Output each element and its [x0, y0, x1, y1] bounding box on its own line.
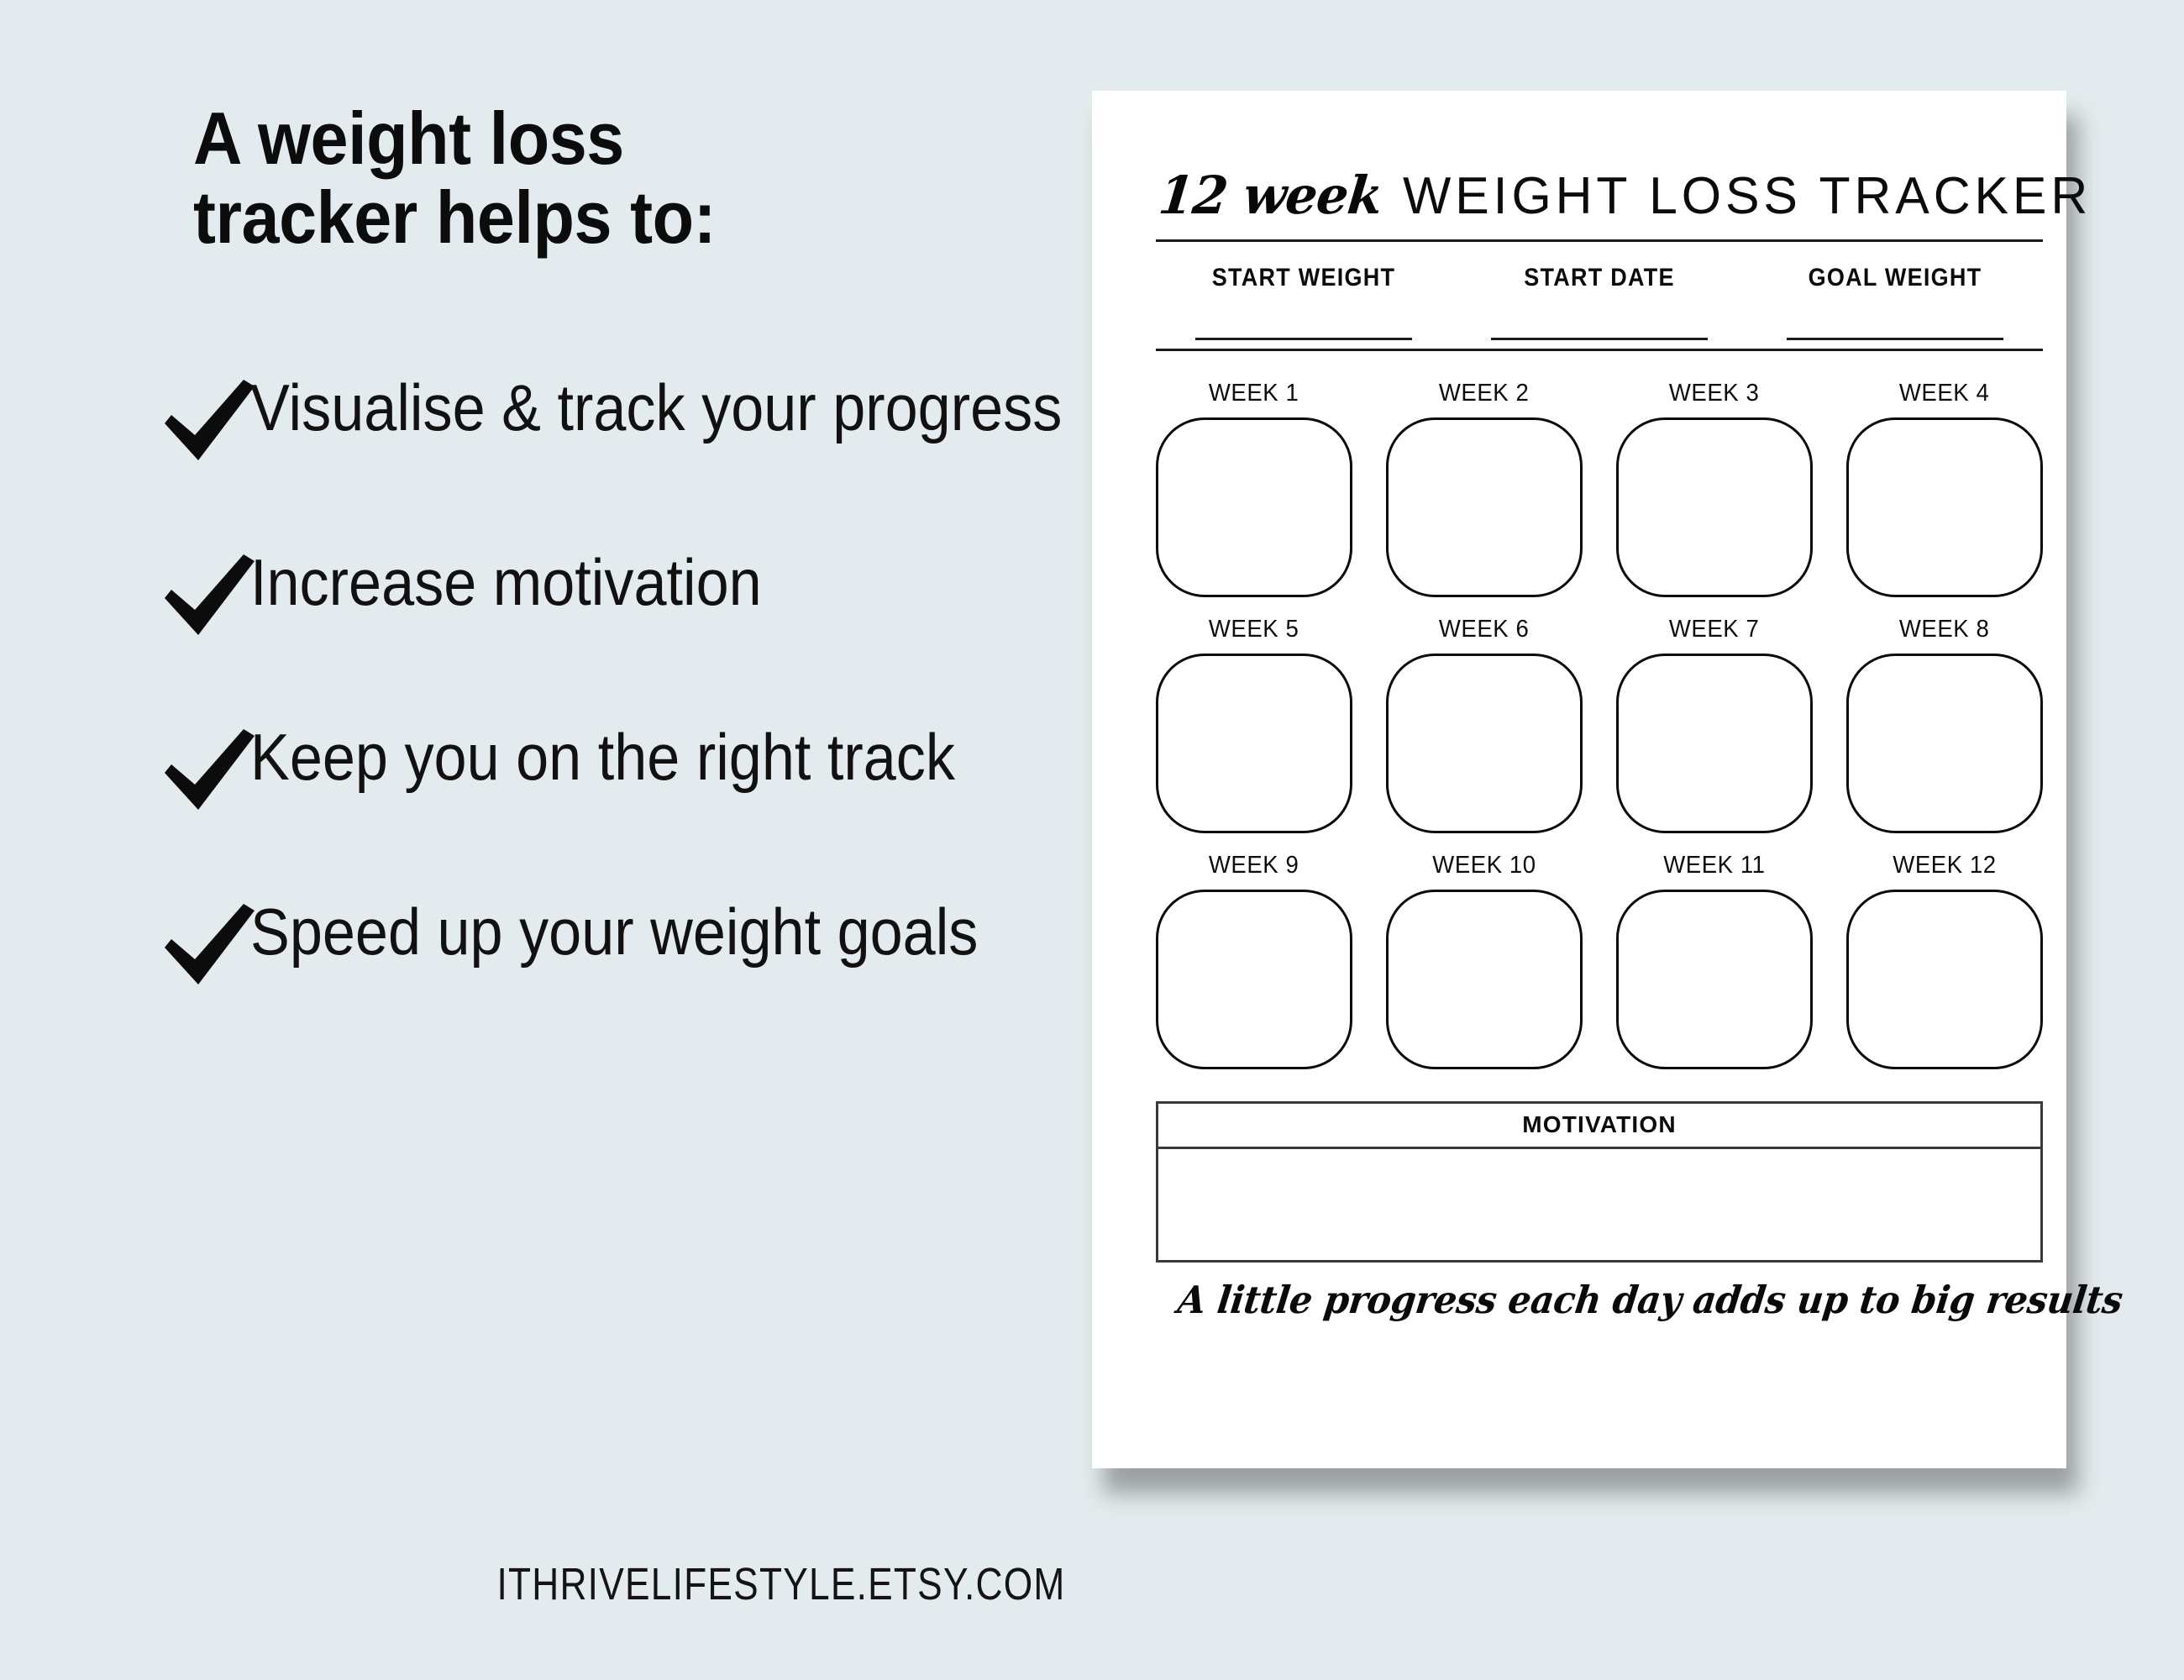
week-cell: WEEK 2	[1386, 380, 1583, 597]
week-entry-box[interactable]	[1156, 417, 1352, 597]
weeks-grid: WEEK 1 WEEK 2 WEEK 3 WEEK 4 WEEK 5 WEEK …	[1156, 380, 2043, 1069]
benefit-label: Speed up your weight goals	[250, 894, 1140, 970]
week-cell: WEEK 5	[1156, 616, 1352, 833]
week-cell: WEEK 12	[1846, 852, 2043, 1069]
week-entry-box[interactable]	[1616, 654, 1813, 833]
week-cell: WEEK 4	[1846, 380, 2043, 597]
benefit-item: Increase motivation	[160, 544, 1050, 670]
field-label: START DATE	[1474, 264, 1725, 292]
field-write-in-line[interactable]	[1491, 338, 1708, 340]
week-label: WEEK 2	[1439, 380, 1530, 407]
week-cell: WEEK 10	[1386, 852, 1583, 1069]
tracker-sheet: 12 week WEIGHT LOSS TRACKER START WEIGHT…	[1156, 165, 2043, 1322]
motivation-entry-area[interactable]	[1158, 1149, 2040, 1260]
week-cell: WEEK 8	[1846, 616, 2043, 833]
week-label: WEEK 1	[1209, 380, 1299, 407]
week-cell: WEEK 6	[1386, 616, 1583, 833]
promo-heading: A weight loss tracker helps to:	[193, 99, 858, 257]
week-label: WEEK 4	[1899, 380, 1990, 407]
checkmark-icon	[160, 548, 260, 648]
week-label: WEEK 7	[1669, 616, 1760, 643]
field-write-in-line[interactable]	[1195, 338, 1412, 340]
week-cell: WEEK 9	[1156, 852, 1352, 1069]
motivation-block: MOTIVATION	[1156, 1101, 2043, 1263]
checkmark-icon	[160, 722, 260, 823]
week-cell: WEEK 1	[1156, 380, 1352, 597]
week-entry-box[interactable]	[1616, 417, 1813, 597]
week-label: WEEK 5	[1209, 616, 1299, 643]
week-entry-box[interactable]	[1386, 654, 1583, 833]
benefit-list: Visualise & track your progress Increase…	[160, 370, 1050, 1068]
tracker-title-main: WEIGHT LOSS TRACKER	[1403, 166, 2092, 226]
week-label: WEEK 12	[1893, 852, 1996, 879]
week-entry-box[interactable]	[1156, 654, 1352, 833]
shop-url-label: ITHRIVELIFESTYLE.ETSY.COM	[140, 1558, 1421, 1610]
field-write-in-line[interactable]	[1787, 338, 2003, 340]
week-cell: WEEK 7	[1616, 616, 1813, 833]
week-entry-box[interactable]	[1156, 890, 1352, 1069]
start-goal-field-row: START WEIGHT START DATE GOAL WEIGHT	[1156, 242, 2043, 351]
field-start-date: START DATE	[1452, 264, 1747, 340]
week-label: WEEK 8	[1899, 616, 1990, 643]
benefit-item: Visualise & track your progress	[160, 370, 1050, 496]
benefit-label: Keep you on the right track	[250, 719, 1140, 795]
tracker-paper: 12 week WEIGHT LOSS TRACKER START WEIGHT…	[1092, 91, 2066, 1468]
week-label: WEEK 9	[1209, 852, 1299, 879]
benefit-label: Increase motivation	[250, 544, 1140, 621]
week-entry-box[interactable]	[1846, 417, 2043, 597]
week-label: WEEK 3	[1669, 380, 1760, 407]
week-label: WEEK 6	[1439, 616, 1530, 643]
week-cell: WEEK 11	[1616, 852, 1813, 1069]
benefit-item: Speed up your weight goals	[160, 894, 1050, 1020]
field-start-weight: START WEIGHT	[1156, 264, 1452, 340]
week-entry-box[interactable]	[1386, 890, 1583, 1069]
motivational-quote: A little progress each day adds up to bi…	[1175, 1278, 2024, 1322]
week-label: WEEK 11	[1663, 852, 1765, 879]
week-entry-box[interactable]	[1846, 890, 2043, 1069]
week-entry-box[interactable]	[1386, 417, 1583, 597]
benefit-label: Visualise & track your progress	[250, 370, 1140, 446]
field-label: GOAL WEIGHT	[1770, 264, 2021, 292]
promo-panel: A weight loss tracker helps to: Visualis…	[0, 0, 1084, 1680]
week-cell: WEEK 3	[1616, 380, 1813, 597]
week-entry-box[interactable]	[1846, 654, 2043, 833]
benefit-item: Keep you on the right track	[160, 719, 1050, 845]
checkmark-icon	[160, 897, 260, 998]
motivation-header-label: MOTIVATION	[1158, 1104, 2040, 1149]
field-label: START WEIGHT	[1179, 264, 1430, 292]
checkmark-icon	[160, 373, 260, 474]
tracker-title-script: 12 week	[1156, 165, 1385, 226]
week-entry-box[interactable]	[1616, 890, 1813, 1069]
field-goal-weight: GOAL WEIGHT	[1747, 264, 2043, 340]
tracker-title: 12 week WEIGHT LOSS TRACKER	[1156, 165, 2043, 242]
week-label: WEEK 10	[1432, 852, 1536, 879]
